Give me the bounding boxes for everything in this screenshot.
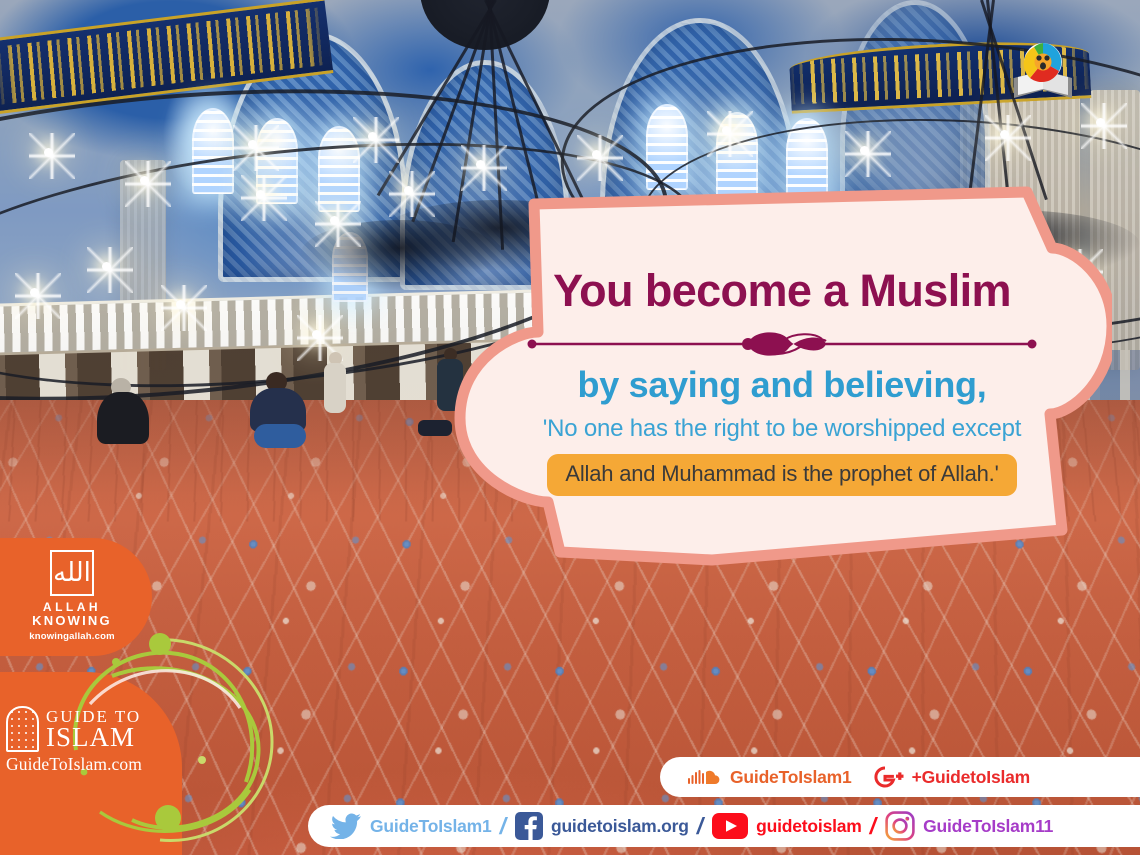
facebook-icon xyxy=(515,812,543,840)
social-label-soundcloud: GuideToIslam1 xyxy=(730,767,852,788)
soundcloud-icon xyxy=(688,767,722,787)
twitter-icon xyxy=(330,813,362,839)
social-separator: / xyxy=(870,813,876,840)
allah-knowing-logo[interactable]: الله ALLAH KNOWING knowingallah.com xyxy=(20,550,124,642)
chandelier-lamp xyxy=(30,288,39,297)
bag-on-floor xyxy=(418,420,452,436)
chandelier-lamp xyxy=(248,140,257,149)
google-plus-icon xyxy=(874,765,904,789)
social-label-facebook: guidetoislam.org xyxy=(551,816,689,837)
social-separator: / xyxy=(500,813,506,840)
chandelier-lamp xyxy=(312,330,321,339)
quote-card-content: You become a Muslim by saying and believ… xyxy=(512,196,1052,556)
social-link-twitter[interactable]: GuideToIslam1 / xyxy=(330,813,506,840)
colorful-book-logo-icon xyxy=(1010,40,1076,106)
guide-to-islam-logo[interactable]: GUIDE TO ISLAM GuideToIslam.com xyxy=(6,706,176,775)
chandelier-lamp xyxy=(1000,130,1009,139)
social-bar-top: GuideToIslam1 +GuidetoIslam xyxy=(660,757,1140,797)
social-separator: / xyxy=(697,813,703,840)
chandelier-lamp xyxy=(140,176,149,185)
chandelier-lamp xyxy=(102,262,111,271)
chandelier-lamp xyxy=(404,186,413,195)
worshipper-figure xyxy=(248,372,308,448)
chandelier-lamp xyxy=(176,300,185,309)
chandelier-lamp xyxy=(476,160,485,169)
allah-knowing-url[interactable]: knowingallah.com xyxy=(20,631,124,642)
arabic-allah-calligraphy-icon: الله xyxy=(50,550,94,596)
social-link-soundcloud[interactable]: GuideToIslam1 xyxy=(688,767,852,788)
quote-highlight-pill: Allah and Muhammad is the prophet of All… xyxy=(547,454,1016,496)
youtube-icon xyxy=(712,813,748,839)
social-label-twitter: GuideToIslam1 xyxy=(370,816,492,837)
worshipper-figure xyxy=(95,378,151,444)
social-label-youtube: guidetoislam xyxy=(756,816,862,837)
chandelier-lamp xyxy=(1096,118,1105,127)
social-label-google-plus: +GuidetoIslam xyxy=(912,767,1030,788)
instagram-icon xyxy=(885,811,915,841)
social-link-google-plus[interactable]: +GuidetoIslam xyxy=(874,765,1030,789)
chandelier-lamp xyxy=(722,126,731,135)
chandelier-lamp xyxy=(44,148,53,157)
social-link-facebook[interactable]: guidetoislam.org / xyxy=(515,812,703,840)
social-label-instagram: GuideToIslam11 xyxy=(923,816,1053,837)
chandelier-lamp xyxy=(860,146,869,155)
chandelier-lamp xyxy=(368,132,377,141)
mihrab-icon xyxy=(6,706,39,752)
poster-root: You become a Muslim by saying and believ… xyxy=(0,0,1140,855)
standing-figure xyxy=(322,352,348,414)
quote-headline: You become a Muslim xyxy=(553,268,1011,313)
flourish-divider xyxy=(526,327,1038,361)
chandelier-lamp xyxy=(592,150,601,159)
guide-to-islam-word-2: ISLAM xyxy=(46,725,141,751)
allah-knowing-word-1: ALLAH xyxy=(20,600,124,614)
social-link-youtube[interactable]: guidetoislam / xyxy=(712,813,876,840)
allah-knowing-word-2: KNOWING xyxy=(20,613,124,628)
flourish-divider-icon xyxy=(526,327,1038,361)
guide-to-islam-url[interactable]: GuideToIslam.com xyxy=(6,754,176,775)
chandelier-lamp xyxy=(256,190,265,199)
chandelier-lamp xyxy=(330,216,339,225)
quote-card: You become a Muslim by saying and believ… xyxy=(452,186,1112,566)
social-bar-bottom: GuideToIslam1 / guidetoislam.org / guide… xyxy=(308,805,1140,847)
quote-line: 'No one has the right to be worshipped e… xyxy=(543,417,1022,441)
social-link-instagram[interactable]: GuideToIslam11 xyxy=(885,811,1053,841)
quote-subline: by saying and believing, xyxy=(578,367,987,403)
